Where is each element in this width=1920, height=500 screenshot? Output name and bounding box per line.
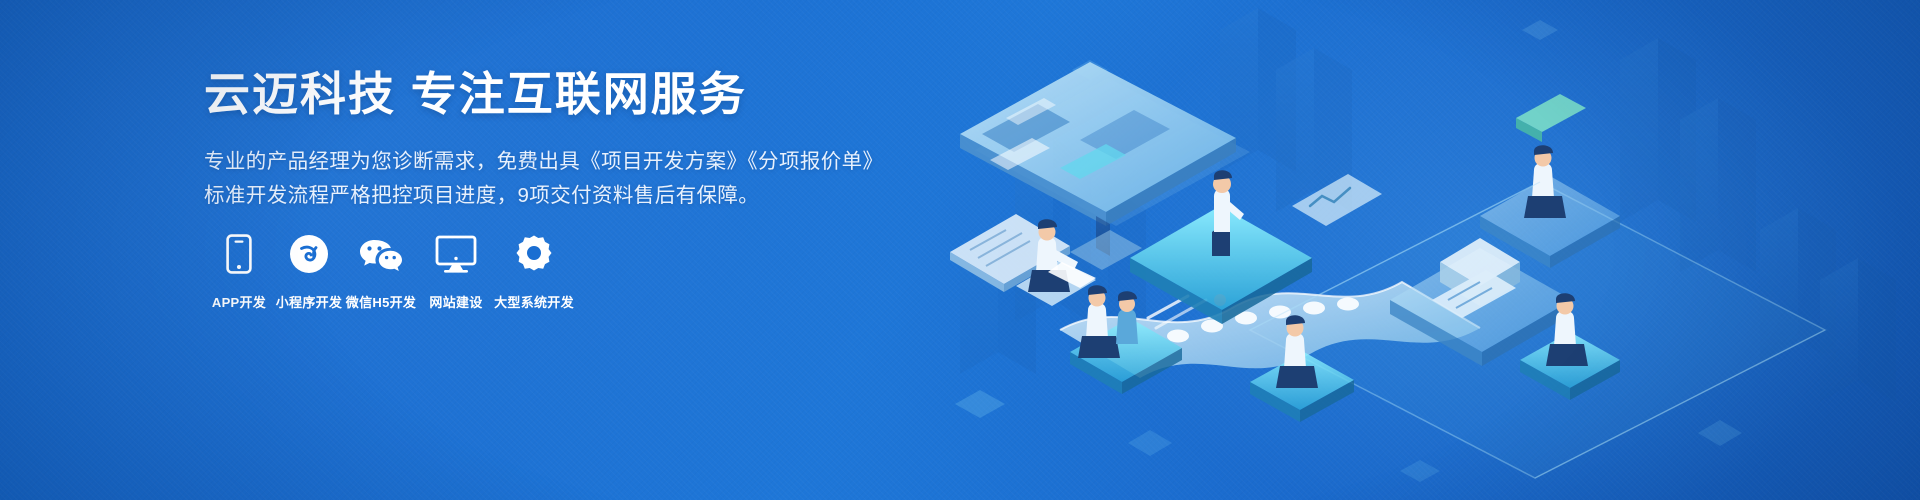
service-item-wechat[interactable]: 微信H5开发 [344, 232, 418, 311]
mini-program-icon [289, 232, 329, 276]
illustration-container [920, 0, 1920, 500]
service-label-system: 大型系统开发 [494, 292, 574, 311]
wechat-icon [358, 232, 404, 276]
service-item-system[interactable]: 大型系统开发 [494, 232, 574, 311]
copy-block: 云迈科技 专注互联网服务 专业的产品经理为您诊断需求，免费出具《项目开发方案》《… [204, 66, 964, 213]
service-item-miniprogram[interactable]: 小程序开发 [274, 232, 344, 311]
service-label-miniprogram: 小程序开发 [276, 292, 343, 311]
service-label-website: 网站建设 [429, 292, 482, 311]
mobile-phone-icon [226, 232, 252, 276]
service-item-website[interactable]: 网站建设 [418, 232, 494, 311]
gear-icon [514, 232, 554, 276]
service-label-app: APP开发 [212, 292, 266, 311]
service-item-app[interactable]: APP开发 [204, 232, 274, 311]
hero-banner: 云迈科技 专注互联网服务 专业的产品经理为您诊断需求，免费出具《项目开发方案》《… [0, 0, 1920, 500]
subheading-line-1: 专业的产品经理为您诊断需求，免费出具《项目开发方案》《分项报价单》 [204, 145, 964, 179]
service-label-wechat: 微信H5开发 [346, 292, 416, 311]
service-icon-row: APP开发 小程序开发 [204, 232, 574, 311]
subheading: 专业的产品经理为您诊断需求，免费出具《项目开发方案》《分项报价单》 标准开发流程… [204, 145, 964, 213]
monitor-icon [435, 232, 477, 276]
isometric-tech-team-illustration [920, 0, 1920, 500]
subheading-line-2: 标准开发流程严格把控项目进度，9项交付资料售后有保障。 [204, 179, 964, 213]
page-title: 云迈科技 专注互联网服务 [204, 66, 964, 124]
